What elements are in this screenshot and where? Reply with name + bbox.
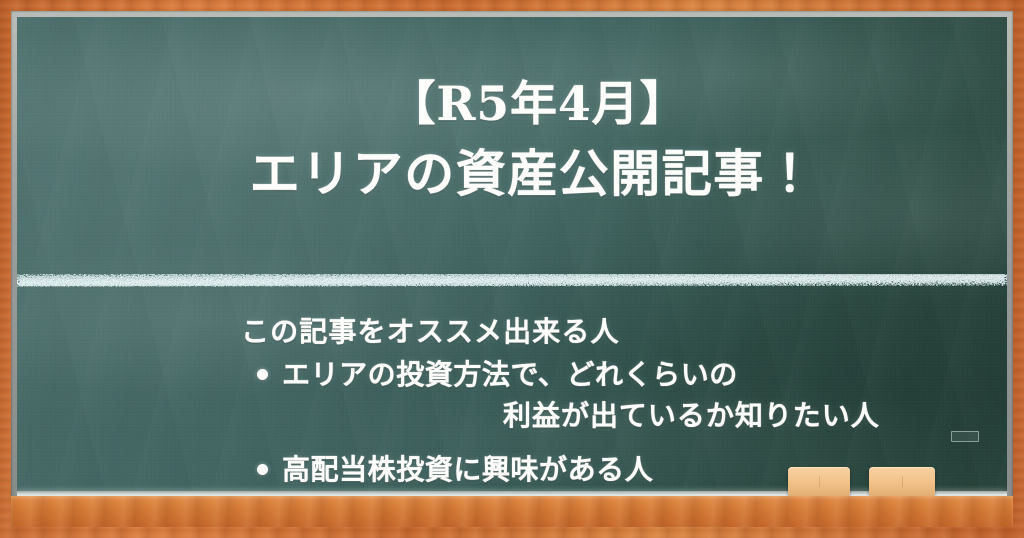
eraser-seam [819,476,820,487]
list-item-text: エリアの投資方法で、どれくらいの [282,354,738,395]
title-block: 【R5年4月】 エリアの資産公開記事！ [17,75,1007,205]
bullet-dot-icon [257,369,268,380]
list-spacer [17,436,1007,449]
chalk-smudge-mark [951,431,979,442]
chalk-divider-line [17,265,1007,299]
list-item-text: 高配当株投資に興味がある人 [282,449,653,490]
recommendation-list-block: この記事をオススメ出来る人 エリアの投資方法で、どれくらいの 利益が出ているか知… [17,313,1007,491]
chalkboard-surface: 【R5年4月】 エリアの資産公開記事！ [17,17,1007,491]
chalk-eraser-left[interactable] [788,467,850,497]
list-heading: この記事をオススメ出来る人 [17,313,1007,351]
chalk-eraser-right[interactable] [869,467,935,497]
list-item: エリアの投資方法で、どれくらいの [17,354,1007,395]
board-content: 【R5年4月】 エリアの資産公開記事！ [17,17,1007,491]
title-line-2: エリアの資産公開記事！ [17,143,1007,205]
blackboard-thumbnail: 【R5年4月】 エリアの資産公開記事！ [0,0,1024,538]
bullet-dot-icon [257,464,268,475]
chalk-tray-ledge [11,496,1013,527]
eraser-seam [902,476,903,487]
list-item: 高配当株投資に興味がある人 [17,449,1007,490]
title-line-1: 【R5年4月】 [17,75,1007,135]
list-item-continuation: 利益が出ているか知りたい人 [17,395,1007,436]
